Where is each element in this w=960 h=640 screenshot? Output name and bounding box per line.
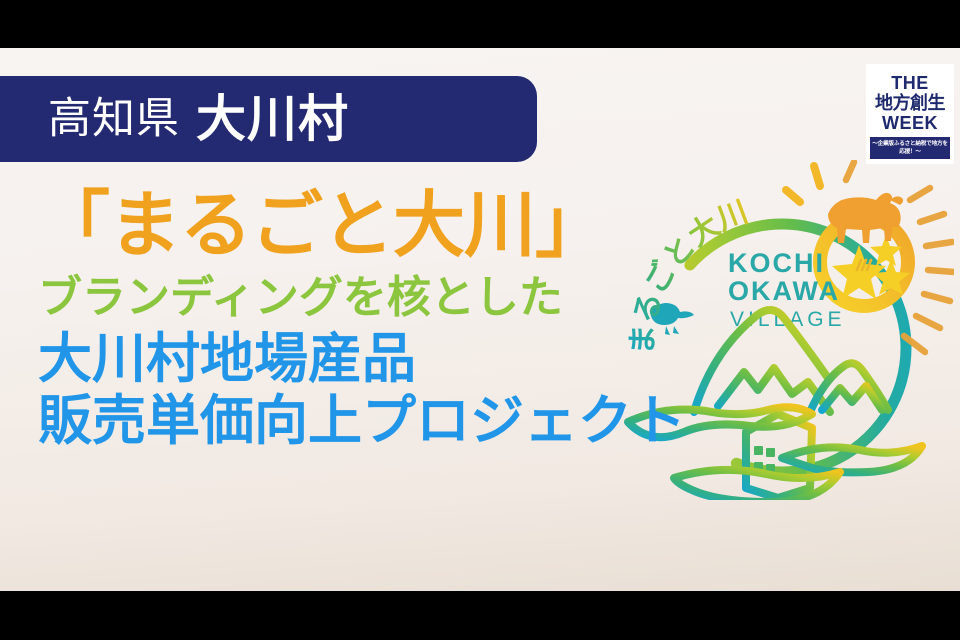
logo-name-kochi: KOCHI bbox=[728, 248, 825, 278]
project-name-line-1: 大川村地場産品 bbox=[38, 328, 686, 391]
event-badge-week: WEEK bbox=[882, 114, 938, 133]
slide-canvas: 高知県 大川村 「まるごと大川」 ブランディングを核とした 大川村地場産品 販売… bbox=[0, 48, 960, 591]
letterbox-bar-top bbox=[0, 0, 960, 48]
event-badge-the: THE bbox=[891, 74, 929, 93]
project-name-line-2: 販売単価向上プロジェクト bbox=[38, 390, 686, 453]
event-badge-caption: 〜企業版ふるさと納税で地方を応援！〜 bbox=[870, 137, 950, 159]
event-badge-japanese: 地方創生 bbox=[875, 93, 945, 114]
letterbox-bar-bottom bbox=[0, 591, 960, 640]
prefecture-badge: 高知県 大川村 bbox=[0, 76, 537, 162]
sun-rays-left-icon bbox=[786, 166, 820, 202]
project-title: 「まるごと大川」 bbox=[38, 188, 686, 266]
prefecture-label: 高知県 bbox=[48, 98, 180, 141]
village-label: 大川村 bbox=[196, 94, 349, 144]
headline-block: 「まるごと大川」 ブランディングを核とした 大川村地場産品 販売単価向上プロジェ… bbox=[38, 188, 686, 453]
mountain-icon bbox=[694, 310, 888, 412]
event-badge: THE 地方創生 WEEK 〜企業版ふるさと納税で地方を応援！〜 bbox=[866, 64, 954, 164]
project-subtitle: ブランディングを核とした bbox=[38, 272, 686, 324]
logo-name-okawa: OKAWA bbox=[728, 276, 840, 306]
presentation-slide: 高知県 大川村 「まるごと大川」 ブランディングを核とした 大川村地場産品 販売… bbox=[0, 0, 960, 640]
